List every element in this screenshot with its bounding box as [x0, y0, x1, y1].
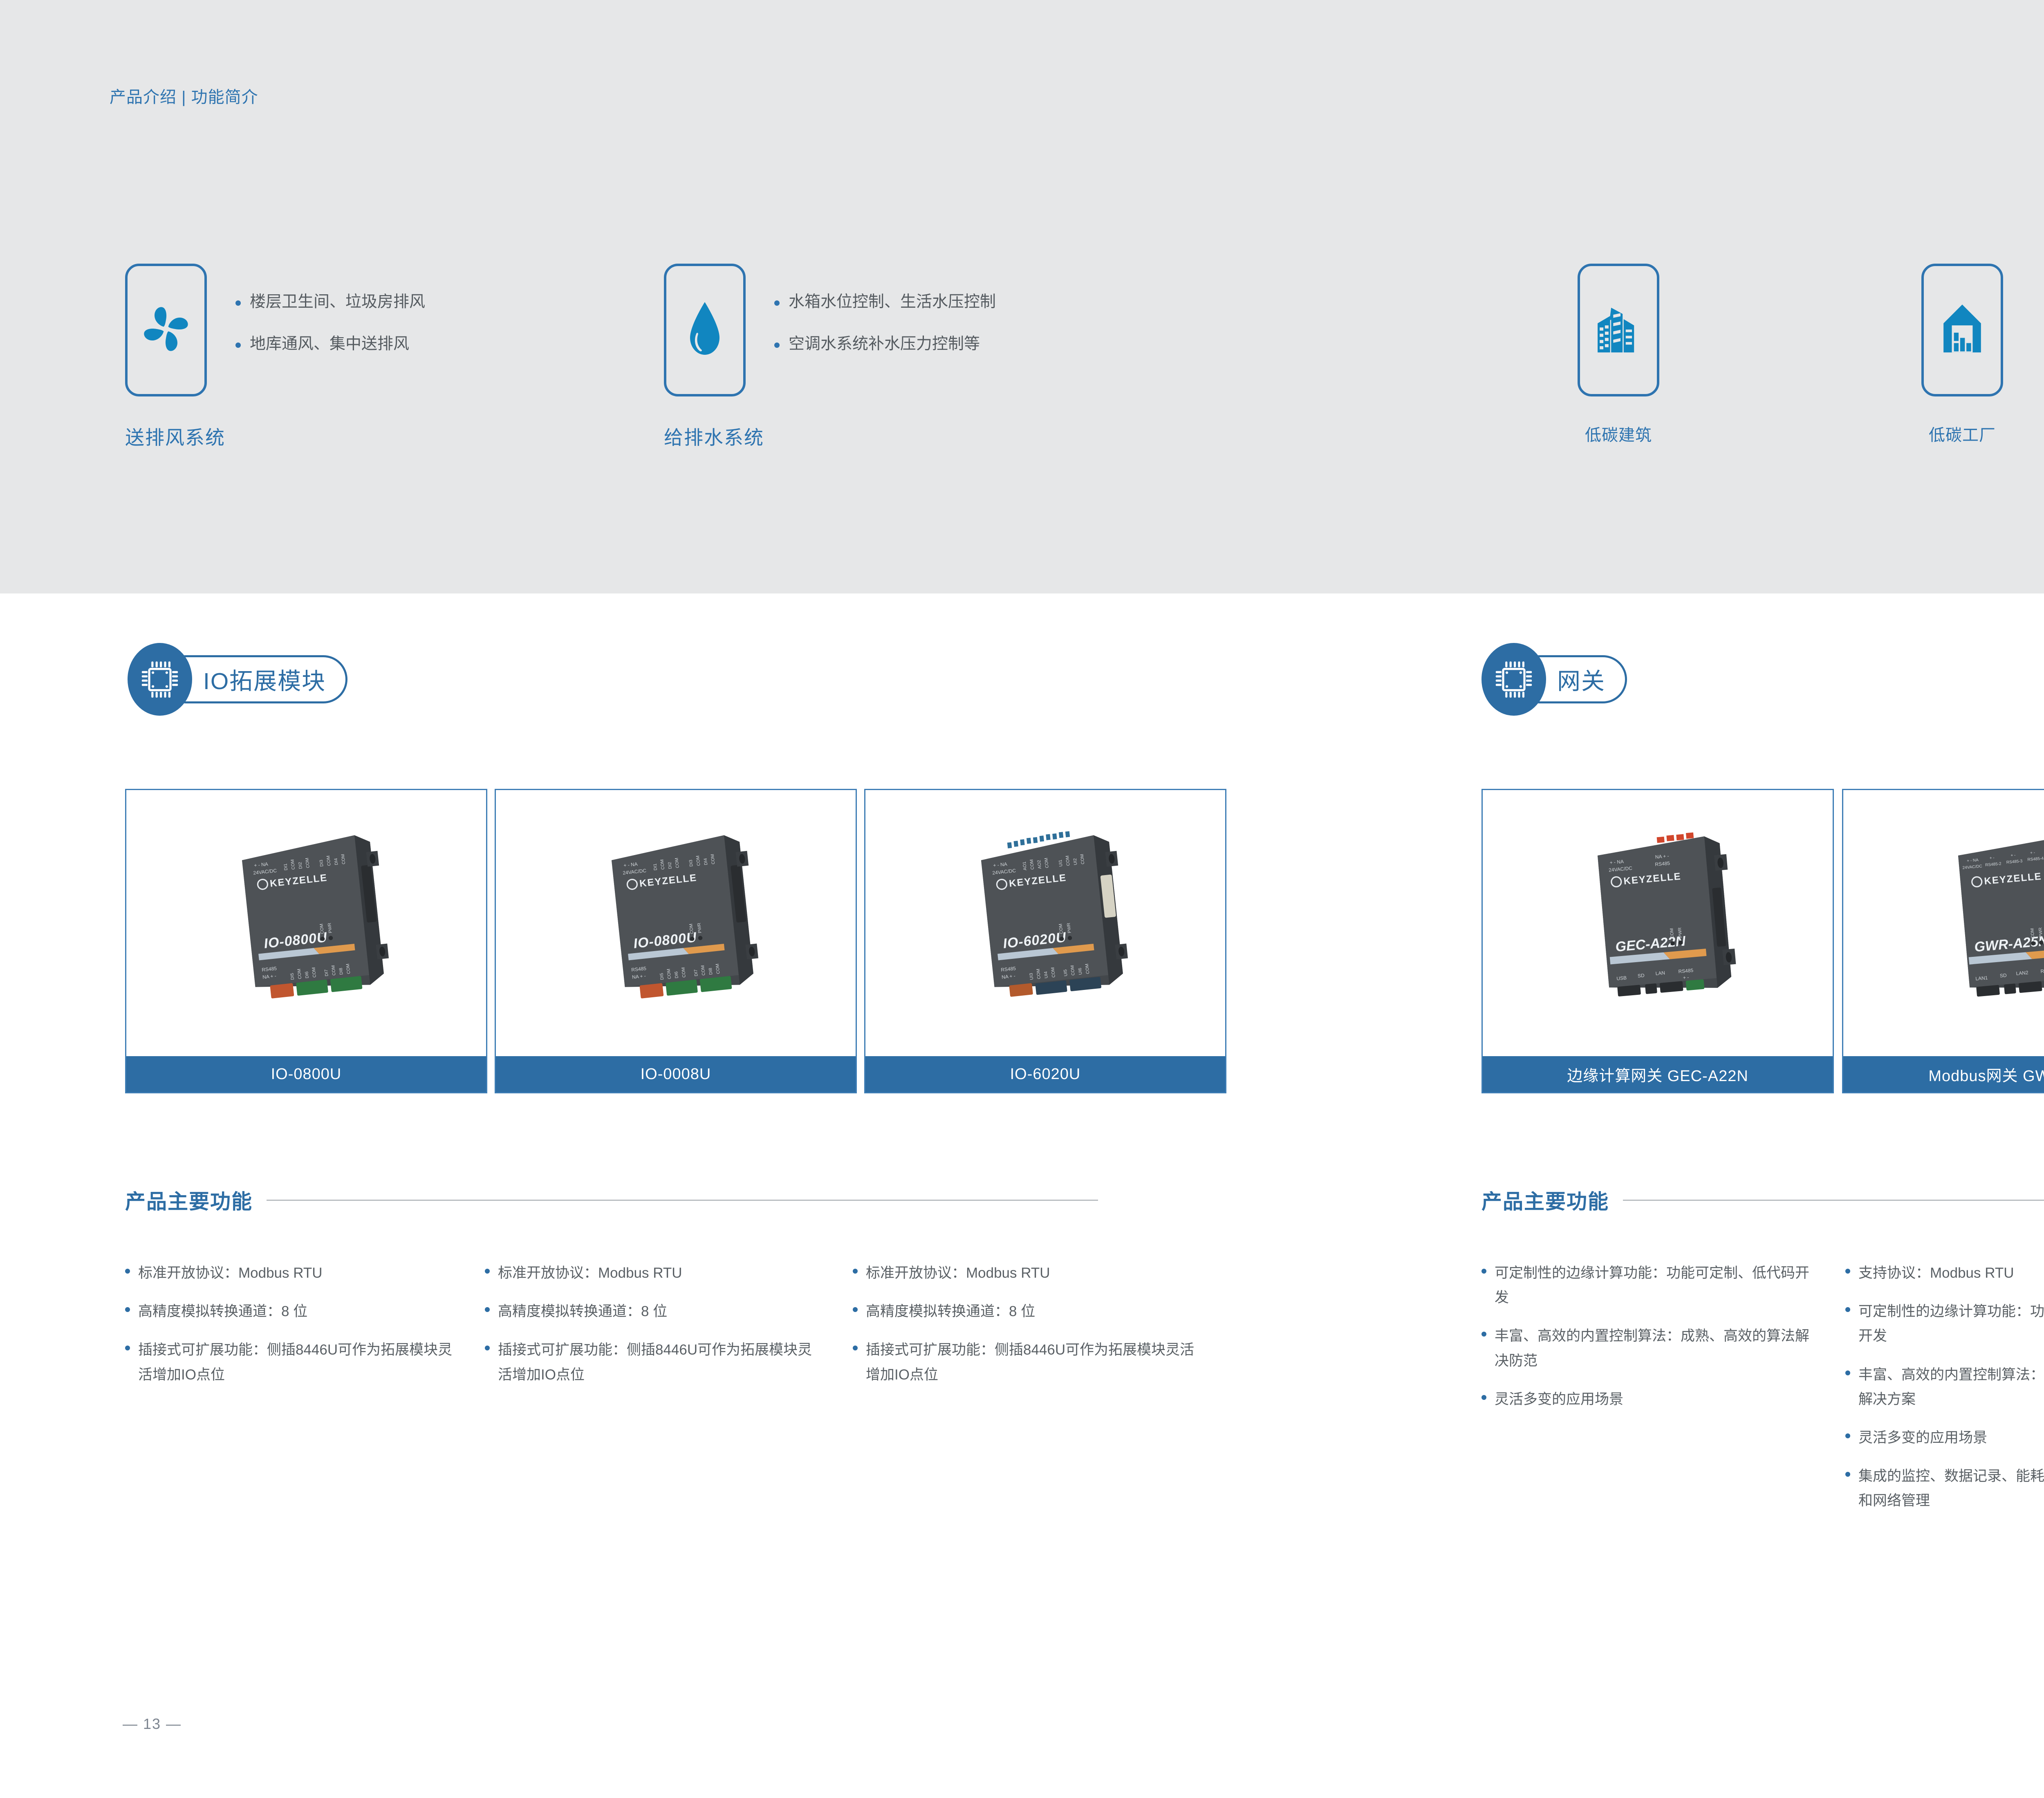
feature-item: 灵活多变的应用场景 — [1481, 1387, 1845, 1412]
device-illustration-gwr-a25n: + - NA + -+ - + -+ - 24VAC/DC RS485-2RS4… — [1912, 821, 2044, 1026]
svg-text:COM: COM — [700, 965, 706, 975]
feature-item: 插接式可扩展功能：侧插8446U可作为拓展模块灵活增加IO点位 — [853, 1338, 1213, 1387]
bullet-dot-icon — [853, 1269, 858, 1274]
svg-text:COM: COM — [1669, 928, 1675, 938]
scenario-bullet: 地库通风、集中送排风 — [235, 334, 425, 354]
svg-text:DI1: DI1 — [652, 863, 658, 871]
scenario-bullet: 空调水系统补水压力控制等 — [774, 334, 996, 354]
bullet-text: 地库通风、集中送排风 — [250, 334, 409, 354]
svg-text:COM: COM — [1029, 859, 1035, 869]
low-carbon-label: 低碳建筑 — [1585, 422, 1652, 446]
feature-item: 可定制性的边缘计算功能：功能可定制、低代码开发 — [1845, 1299, 2044, 1348]
chip-icon — [1495, 657, 1533, 702]
feature-text: 插接式可扩展功能：侧插8446U可作为拓展模块灵活增加IO点位 — [498, 1338, 821, 1387]
fan-icon-box — [125, 264, 207, 396]
page-number-left: — 13 — — [123, 1715, 182, 1733]
bullet-dot-icon — [1845, 1472, 1850, 1477]
product-caption: Modbus网关 GWR-A25N — [1843, 1056, 2044, 1092]
feature-text: 可定制性的边缘计算功能：功能可定制、低代码开发 — [1495, 1261, 1818, 1310]
bullet-dot-icon — [1481, 1269, 1486, 1274]
bullet-text: 空调水系统补水压力控制等 — [789, 334, 980, 354]
feature-text: 丰富、高效的内置控制算法：成熟、高效的算法解决防范 — [1495, 1324, 1818, 1373]
svg-text:PWR: PWR — [1066, 922, 1072, 933]
svg-text:COM: COM — [1058, 923, 1064, 934]
feature-text: 插接式可扩展功能：侧插8446U可作为拓展模块灵活增加IO点位 — [138, 1338, 461, 1387]
feature-text: 灵活多变的应用场景 — [1858, 1426, 1987, 1450]
svg-text:COM: COM — [331, 965, 337, 975]
svg-text:COM: COM — [1044, 858, 1050, 868]
product-image: + - NA 24VAC/DC DI1 COM DI2 COM DI3 COM … — [496, 790, 856, 1056]
svg-text:COM: COM — [341, 853, 347, 864]
svg-text:PWR: PWR — [1677, 927, 1683, 938]
feature-text: 支持协议：Modbus RTU — [1858, 1261, 2014, 1285]
bullet-dot-icon — [1481, 1332, 1486, 1337]
svg-text:COM: COM — [674, 858, 680, 868]
bullet-text: 水箱水位控制、生活水压控制 — [789, 292, 996, 312]
bullet-dot-icon — [853, 1307, 858, 1312]
product-image: + - NA 24VAC/DC AO1 COM AO2 COM UI1 COM … — [865, 790, 1225, 1056]
svg-text:DI5: DI5 — [659, 972, 665, 980]
chip-icon-circle — [128, 643, 192, 716]
low-carbon-tile-building: 低碳建筑 — [1578, 264, 1659, 446]
section-badge-label: 网关 — [1557, 663, 1605, 696]
feature-item: 标准开放协议：Modbus RTU — [485, 1261, 853, 1285]
svg-text:AO1: AO1 — [1022, 861, 1028, 871]
feature-item: 灵活多变的应用场景 — [1845, 1426, 2044, 1450]
svg-text:DI7: DI7 — [324, 969, 329, 976]
water-drop-icon-box — [664, 264, 746, 396]
feature-column: 可定制性的边缘计算功能：功能可定制、低代码开发 丰富、高效的内置控制算法：成熟、… — [1481, 1261, 1845, 1527]
svg-text:DI8: DI8 — [708, 967, 714, 975]
svg-text:DI6: DI6 — [304, 971, 310, 978]
svg-text:LAN: LAN — [1655, 970, 1665, 976]
svg-text:COM: COM — [319, 923, 325, 934]
product-card[interactable]: + - NA + -+ - + -+ - 24VAC/DC RS485-2RS4… — [1842, 789, 2044, 1093]
feature-item: 标准开放协议：Modbus RTU — [853, 1261, 1213, 1285]
product-card[interactable]: + - NA 24VAC/DC AO1 COM AO2 COM UI1 COM … — [864, 789, 1226, 1093]
feature-item: 丰富、高效的内置控制算法：成熟、高效的算法解决方案 — [1845, 1363, 2044, 1412]
feature-text: 标准开放协议：Modbus RTU — [498, 1261, 682, 1285]
io-product-card-row: + - NA 24VAC/DC DI1 COM DI2 COM DI3 COM … — [125, 789, 1226, 1093]
section-badge-gateway: 网关 — [1481, 643, 1627, 716]
feature-item: 支持协议：Modbus RTU — [1845, 1261, 2044, 1285]
bullet-dot-icon — [1845, 1307, 1850, 1312]
svg-text:COM: COM — [695, 855, 702, 866]
product-caption: 边缘计算网关 GEC-A22N — [1483, 1056, 1833, 1092]
factory-icon — [1936, 300, 1988, 360]
device-illustration-gec-a22n: + - NA 24VAC/DC NA + - RS485 KEYZELLE GE… — [1551, 821, 1764, 1026]
bullet-dot-icon — [485, 1346, 490, 1350]
running-header-left: 产品介绍 | 功能简介 — [110, 84, 258, 107]
svg-text:DI4: DI4 — [334, 858, 339, 865]
svg-text:COM: COM — [290, 859, 296, 869]
bullet-dot-icon — [1845, 1433, 1850, 1438]
svg-text:UI6: UI6 — [1078, 967, 1083, 975]
svg-text:UI3: UI3 — [1029, 972, 1035, 980]
feature-text: 插接式可扩展功能：侧插8446U可作为拓展模块灵活增加IO点位 — [866, 1338, 1197, 1387]
scenario-block-water: 水箱水位控制、生活水压控制 空调水系统补水压力控制等 给排水系统 — [664, 264, 996, 450]
svg-text:DI3: DI3 — [688, 859, 694, 867]
svg-text:COM: COM — [345, 963, 352, 974]
svg-text:COM: COM — [1070, 965, 1076, 975]
svg-text:COM: COM — [1085, 963, 1091, 974]
features-title: 产品主要功能 — [1481, 1185, 1609, 1215]
svg-text:COM: COM — [1080, 853, 1086, 864]
svg-text:LAN2: LAN2 — [2016, 970, 2028, 976]
product-caption: IO-0008U — [496, 1056, 856, 1092]
section-badge-io-module: IO拓展模块 — [128, 643, 347, 716]
svg-text:PWR: PWR — [327, 922, 333, 933]
feature-text: 可定制性的边缘计算功能：功能可定制、低代码开发 — [1858, 1299, 2044, 1348]
feature-item: 集成的监控、数据记录、能耗计量、报警、调度和网络管理 — [1845, 1464, 2044, 1513]
svg-text:UI2: UI2 — [1073, 858, 1078, 865]
bullet-dot-icon — [125, 1269, 130, 1274]
feature-text: 高精度模拟转换通道：8 位 — [498, 1299, 667, 1324]
scenario-bullet: 楼层卫生间、垃圾房排风 — [235, 292, 425, 312]
feature-text: 灵活多变的应用场景 — [1495, 1387, 1623, 1412]
scenario-block-ventilation: 楼层卫生间、垃圾房排风 地库通风、集中送排风 送排风系统 — [125, 264, 425, 450]
feature-column: 标准开放协议：Modbus RTU 高精度模拟转换通道：8 位 插接式可扩展功能… — [125, 1261, 485, 1401]
svg-text:+ - NA: + - NA — [1609, 858, 1624, 865]
scenario-bullet-list: 楼层卫生间、垃圾房排风 地库通风、集中送排风 — [235, 264, 425, 376]
feature-text: 高精度模拟转换通道：8 位 — [138, 1299, 307, 1324]
svg-text:+ -: + - — [1683, 974, 1689, 980]
svg-text:SD: SD — [1999, 972, 2007, 978]
feature-text: 标准开放协议：Modbus RTU — [866, 1261, 1050, 1285]
feature-text: 集成的监控、数据记录、能耗计量、报警、调度和网络管理 — [1858, 1464, 2044, 1513]
product-image: + - NA 24VAC/DC NA + - RS485 KEYZELLE GE… — [1483, 790, 1833, 1056]
features-heading-left: 产品主要功能 — [125, 1185, 1098, 1215]
bullet-dot-icon — [235, 300, 241, 306]
device-illustration-io-6020u: + - NA 24VAC/DC AO1 COM AO2 COM UI1 COM … — [931, 821, 1160, 1026]
svg-text:COM: COM — [681, 967, 687, 977]
low-carbon-label: 低碳工厂 — [1929, 422, 1996, 446]
svg-text:DI1: DI1 — [283, 863, 289, 871]
bullet-dot-icon — [125, 1307, 130, 1312]
feature-columns-left: 标准开放协议：Modbus RTU 高精度模拟转换通道：8 位 插接式可扩展功能… — [125, 1261, 1213, 1401]
scenario-bullet: 水箱水位控制、生活水压控制 — [774, 292, 996, 312]
features-heading-right: 产品主要功能 — [1481, 1185, 2044, 1215]
svg-text:DI4: DI4 — [703, 858, 709, 865]
feature-item: 标准开放协议：Modbus RTU — [125, 1261, 485, 1285]
product-card[interactable]: + - NA 24VAC/DC DI1 COM DI2 COM DI3 COM … — [125, 789, 487, 1093]
svg-text:DI7: DI7 — [693, 969, 699, 976]
svg-text:COM: COM — [297, 968, 303, 979]
svg-text:DI2: DI2 — [298, 862, 303, 869]
svg-text:UI5: UI5 — [1063, 969, 1069, 976]
feature-text: 标准开放协议：Modbus RTU — [138, 1261, 323, 1285]
svg-text:DI3: DI3 — [319, 859, 325, 867]
product-caption: IO-0800U — [126, 1056, 486, 1092]
svg-text:+ -: + - — [2010, 853, 2016, 858]
svg-text:COM: COM — [666, 968, 672, 979]
heading-rule — [267, 1200, 1098, 1201]
bullet-dot-icon — [1481, 1395, 1486, 1400]
svg-text:SD: SD — [1637, 972, 1645, 978]
svg-text:DI5: DI5 — [290, 972, 296, 980]
scenario-row: 水箱水位控制、生活水压控制 空调水系统补水压力控制等 — [664, 264, 996, 396]
scenario-title: 给排水系统 — [664, 422, 996, 450]
svg-text:DI6: DI6 — [674, 971, 679, 978]
bullet-dot-icon — [485, 1269, 490, 1274]
heading-rule — [1623, 1200, 2044, 1201]
section-badge-label: IO拓展模块 — [203, 663, 326, 696]
bullet-dot-icon — [1845, 1370, 1850, 1375]
svg-text:COM: COM — [1036, 968, 1042, 979]
svg-text:DI2: DI2 — [667, 862, 673, 869]
product-image: + - NA 24VAC/DC DI1 COM DI2 COM DI3 COM … — [126, 790, 486, 1056]
feature-item: 高精度模拟转换通道：8 位 — [485, 1299, 853, 1324]
feature-column: 标准开放协议：Modbus RTU 高精度模拟转换通道：8 位 插接式可扩展功能… — [485, 1261, 853, 1401]
feature-item: 可定制性的边缘计算功能：功能可定制、低代码开发 — [1481, 1261, 1845, 1310]
bullet-dot-icon — [774, 343, 780, 348]
svg-text:COM: COM — [305, 858, 311, 868]
chip-icon — [141, 657, 179, 702]
svg-text:COM: COM — [1065, 855, 1071, 866]
gateway-product-card-row: + - NA 24VAC/DC NA + - RS485 KEYZELLE GE… — [1481, 789, 2044, 1093]
svg-text:COM: COM — [710, 853, 716, 864]
bullet-dot-icon — [125, 1346, 130, 1350]
device-illustration-io-0008u: + - NA 24VAC/DC DI1 COM DI2 COM DI3 COM … — [561, 821, 790, 1026]
bullet-dot-icon — [235, 343, 241, 348]
feature-text: 丰富、高效的内置控制算法：成熟、高效的算法解决方案 — [1858, 1363, 2044, 1412]
svg-text:UI1: UI1 — [1058, 859, 1064, 867]
svg-text:+ -: + - — [1989, 855, 1995, 860]
fan-icon — [137, 300, 195, 360]
svg-text:COM: COM — [659, 859, 666, 869]
feature-column: 标准开放协议：Modbus RTU 高精度模拟转换通道：8 位 插接式可扩展功能… — [853, 1261, 1213, 1401]
feature-column: 支持协议：Modbus RTU 可定制性的边缘计算功能：功能可定制、低代码开发 … — [1845, 1261, 2044, 1527]
svg-text:COM: COM — [1050, 967, 1056, 977]
svg-text:COM: COM — [326, 855, 332, 866]
chip-icon-circle — [1481, 643, 1546, 716]
office-buildings-icon-box — [1578, 264, 1659, 396]
bullet-dot-icon — [853, 1346, 858, 1350]
svg-text:DI8: DI8 — [338, 967, 344, 975]
svg-text:UI4: UI4 — [1043, 971, 1049, 978]
brochure-spread: 产品介绍 | 功能简介 产品介绍 | 功能简介 — [0, 0, 2044, 1798]
svg-text:PWR: PWR — [2038, 927, 2044, 938]
feature-item: 丰富、高效的内置控制算法：成熟、高效的算法解决防范 — [1481, 1324, 1845, 1373]
scenario-row: 楼层卫生间、垃圾房排风 地库通风、集中送排风 — [125, 264, 425, 396]
device-illustration-io-0800u: + - NA 24VAC/DC DI1 COM DI2 COM DI3 COM … — [192, 821, 421, 1026]
feature-item: 插接式可扩展功能：侧插8446U可作为拓展模块灵活增加IO点位 — [125, 1338, 485, 1387]
svg-text:USB: USB — [1616, 975, 1627, 981]
feature-columns-right: 可定制性的边缘计算功能：功能可定制、低代码开发 丰富、高效的内置控制算法：成熟、… — [1481, 1261, 2044, 1527]
office-buildings-icon — [1592, 300, 1645, 360]
feature-item: 插接式可扩展功能：侧插8446U可作为拓展模块灵活增加IO点位 — [485, 1338, 853, 1387]
bullet-text: 楼层卫生间、垃圾房排风 — [250, 292, 425, 312]
svg-text:LAN1: LAN1 — [1975, 975, 1988, 982]
features-title: 产品主要功能 — [125, 1185, 253, 1215]
svg-text:+ -: + - — [2030, 850, 2035, 855]
feature-text: 高精度模拟转换通道：8 位 — [866, 1299, 1035, 1324]
feature-item: 高精度模拟转换通道：8 位 — [853, 1299, 1213, 1324]
product-card[interactable]: + - NA 24VAC/DC DI1 COM DI2 COM DI3 COM … — [495, 789, 857, 1093]
scenario-bullet-list: 水箱水位控制、生活水压控制 空调水系统补水压力控制等 — [774, 264, 996, 376]
factory-icon-box — [1921, 264, 2003, 396]
svg-text:COM: COM — [688, 923, 695, 934]
bullet-dot-icon — [1845, 1269, 1850, 1274]
feature-item: 高精度模拟转换通道：8 位 — [125, 1299, 485, 1324]
svg-text:COM: COM — [715, 963, 721, 974]
water-drop-icon — [678, 298, 731, 362]
low-carbon-tile-factory: 低碳工厂 — [1921, 264, 2003, 446]
svg-text:COM: COM — [311, 967, 317, 977]
product-image: + - NA + -+ - + -+ - 24VAC/DC RS485-2RS4… — [1843, 790, 2044, 1056]
bullet-dot-icon — [774, 300, 780, 306]
svg-text:NA + -: NA + - — [1655, 853, 1669, 860]
scenario-title: 送排风系统 — [125, 422, 425, 450]
svg-text:PWR: PWR — [697, 922, 703, 933]
bullet-dot-icon — [485, 1307, 490, 1312]
svg-text:COM: COM — [2030, 928, 2035, 938]
product-caption: IO-6020U — [865, 1056, 1225, 1092]
svg-text:AO2: AO2 — [1037, 860, 1042, 869]
product-card[interactable]: + - NA 24VAC/DC NA + - RS485 KEYZELLE GE… — [1481, 789, 1834, 1093]
